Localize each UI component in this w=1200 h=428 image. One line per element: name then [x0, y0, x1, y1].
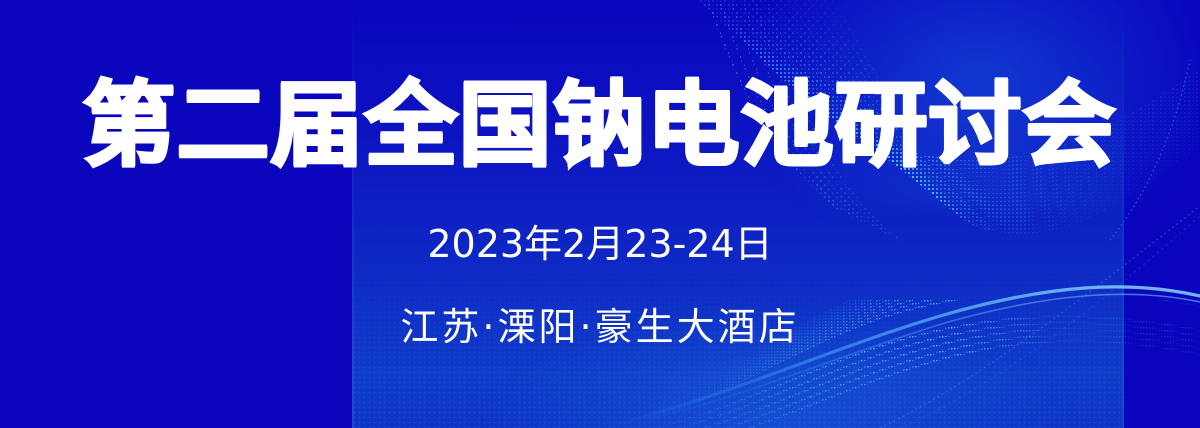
- banner-text-stack: 第二届全国钠电池研讨会 2023年2月23-24日 江苏·溧阳·豪生大酒店: [0, 0, 1200, 428]
- page-title: 第二届全国钠电池研讨会: [0, 78, 1200, 174]
- event-venue: 江苏·溧阳·豪生大酒店: [0, 304, 1200, 350]
- event-date: 2023年2月23-24日: [0, 222, 1200, 266]
- conference-banner: 第二届全国钠电池研讨会 2023年2月23-24日 江苏·溧阳·豪生大酒店: [0, 0, 1200, 428]
